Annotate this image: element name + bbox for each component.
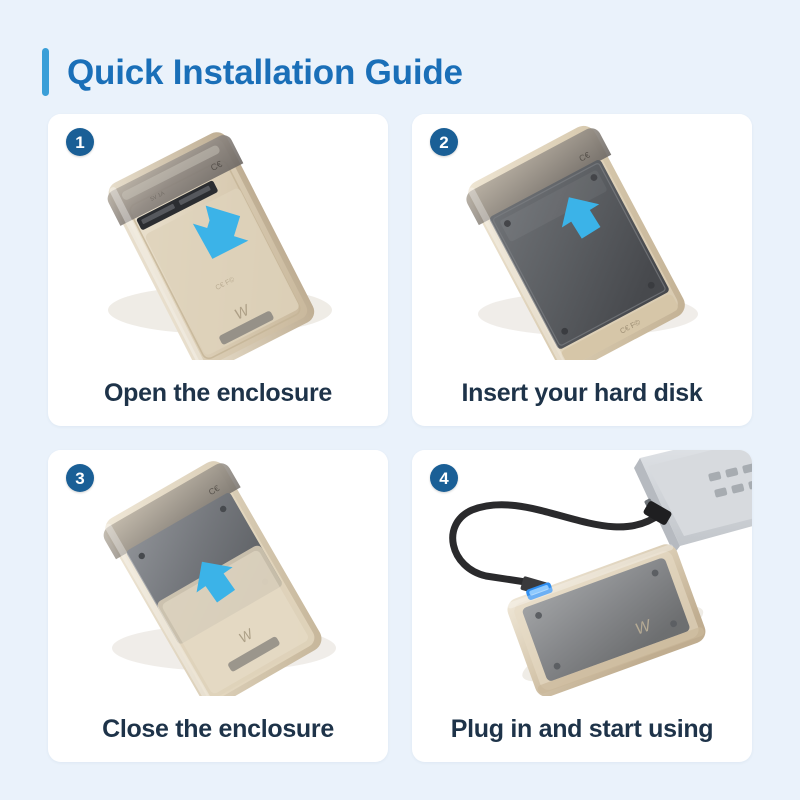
steps-grid: 1: [48, 114, 752, 764]
step-card-2: 2: [412, 114, 752, 426]
page-title: Quick Installation Guide: [67, 55, 463, 90]
step-card-3: 3: [48, 450, 388, 762]
insert-hard-disk-photo: C€ C€ F©: [412, 114, 752, 360]
step-caption-1: Open the enclosure: [48, 379, 388, 408]
step-caption-2: Insert your hard disk: [412, 379, 752, 408]
step-card-1: 1: [48, 114, 388, 426]
step-number-badge-3: 3: [66, 464, 94, 492]
step-caption-3: Close the enclosure: [48, 715, 388, 744]
step-number-badge-1: 1: [66, 128, 94, 156]
title-accent-bar: [42, 48, 49, 96]
page-header: Quick Installation Guide: [42, 48, 463, 96]
close-enclosure-photo: C€ W: [48, 450, 388, 696]
plug-in-laptop-photo: W: [412, 450, 752, 696]
step-caption-4: Plug in and start using: [412, 715, 752, 744]
open-enclosure-photo: C€ 5V 1A C€ F© W: [48, 114, 388, 360]
quick-installation-guide-page: Quick Installation Guide 1: [0, 0, 800, 800]
step-number-badge-2: 2: [430, 128, 458, 156]
step-number-badge-4: 4: [430, 464, 458, 492]
step-card-4: 4: [412, 450, 752, 762]
